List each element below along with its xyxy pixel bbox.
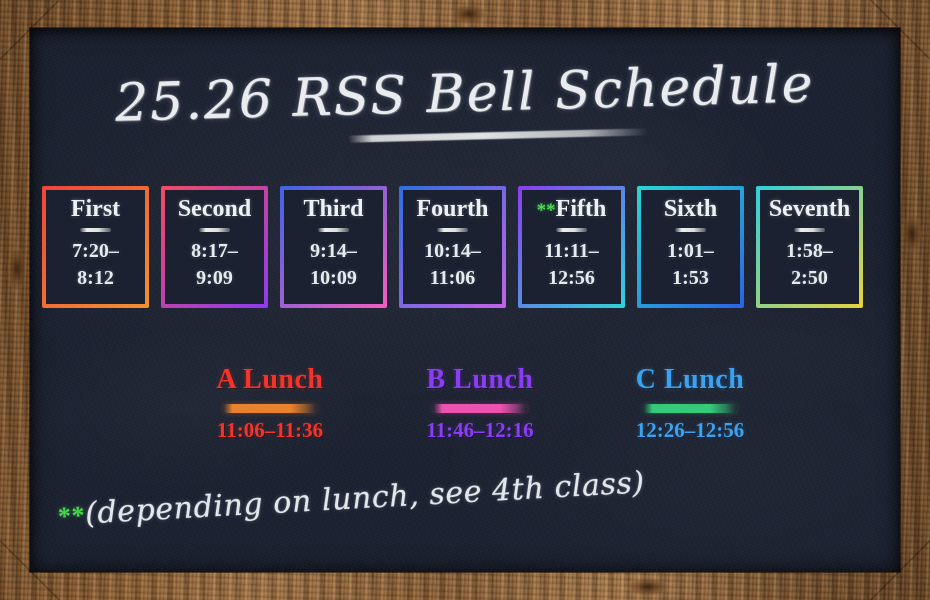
period-label: Third — [303, 196, 363, 222]
footnote-text: (depending on lunch, see 4th class) — [84, 465, 645, 531]
lunch-time-c: 12:26–12:56 — [600, 420, 780, 441]
wood-knot — [452, 4, 486, 24]
chalk-dash-icon — [199, 228, 230, 232]
chalkboard-surface: 25.26 RSS Bell Schedule First 7:20– 8:12 — [30, 28, 900, 572]
period-time-end: 11:06 — [424, 265, 481, 292]
title-area: 25.26 RSS Bell Schedule — [30, 64, 900, 124]
period-time-seventh: 1:58– 2:50 — [786, 238, 833, 291]
period-time-start: 1:58– — [786, 238, 833, 265]
footnote-asterisks: ** — [57, 501, 86, 531]
period-time-first: 7:20– 8:12 — [72, 238, 119, 291]
period-box-sixth[interactable]: Sixth 1:01– 1:53 — [637, 186, 744, 308]
period-time-start: 11:11– — [544, 238, 598, 265]
period-box-fifth[interactable]: **Fifth 11:11– 12:56 — [518, 186, 625, 308]
lunch-chalk-stroke — [223, 404, 317, 413]
period-name-sixth: Sixth — [664, 197, 717, 221]
chalk-dash-icon — [437, 228, 468, 232]
period-time-third: 9:14– 10:09 — [310, 238, 357, 291]
lunch-blocks-row: A Lunch 11:06–11:36 B Lunch 11:46–12:16 … — [180, 366, 780, 441]
chalk-dash-icon — [675, 228, 706, 232]
period-boxes-row: First 7:20– 8:12 Second — [42, 186, 888, 308]
period-time-end: 2:50 — [786, 265, 833, 292]
wood-knot — [902, 214, 922, 254]
period-time-end: 9:09 — [191, 265, 238, 292]
period-box-third[interactable]: Third 9:14– 10:09 — [280, 186, 387, 308]
period-label: Fourth — [417, 196, 489, 222]
period-time-end: 12:56 — [544, 265, 598, 292]
period-label: Fifth — [556, 196, 607, 222]
period-time-fifth: 11:11– 12:56 — [544, 238, 598, 291]
lunch-name-c: C Lunch — [600, 366, 780, 394]
period-box-seventh[interactable]: Seventh 1:58– 2:50 — [756, 186, 863, 308]
period-time-start: 8:17– — [191, 238, 238, 265]
period-time-start: 9:14– — [310, 238, 357, 265]
page-title: 25.26 RSS Bell Schedule — [115, 54, 816, 134]
lunch-time-a: 11:06–11:36 — [180, 420, 360, 441]
lunch-block-b[interactable]: B Lunch 11:46–12:16 — [390, 366, 570, 441]
period-name-first: First — [71, 197, 120, 221]
period-time-end: 10:09 — [310, 265, 357, 292]
lunch-chalk-stroke — [433, 404, 527, 413]
lunch-time-b: 11:46–12:16 — [390, 420, 570, 441]
lunch-block-c[interactable]: C Lunch 12:26–12:56 — [600, 366, 780, 441]
period-label: Sixth — [664, 196, 717, 222]
period-time-end: 8:12 — [72, 265, 119, 292]
chalk-dash-icon — [80, 228, 111, 232]
period-name-second: Second — [178, 197, 251, 221]
lunch-name-b: B Lunch — [390, 366, 570, 394]
period-time-second: 8:17– 9:09 — [191, 238, 238, 291]
period-box-first[interactable]: First 7:20– 8:12 — [42, 186, 149, 308]
chalkboard-bell-schedule: 25.26 RSS Bell Schedule First 7:20– 8:12 — [0, 0, 930, 600]
period-name-fifth: **Fifth — [537, 197, 607, 221]
period-label: Seventh — [769, 196, 850, 222]
period-box-fourth[interactable]: Fourth 10:14– 11:06 — [399, 186, 506, 308]
period-time-end: 1:53 — [667, 265, 714, 292]
period-time-sixth: 1:01– 1:53 — [667, 238, 714, 291]
period-time-fourth: 10:14– 11:06 — [424, 238, 481, 291]
chalk-dash-icon — [794, 228, 825, 232]
wood-knot — [628, 578, 668, 596]
footnote: **(depending on lunch, see 4th class) — [57, 465, 646, 533]
lunch-chalk-stroke — [643, 404, 737, 413]
period-time-start: 1:01– — [667, 238, 714, 265]
period-time-start: 7:20– — [72, 238, 119, 265]
lunch-block-a[interactable]: A Lunch 11:06–11:36 — [180, 366, 360, 441]
title-underline-chalk-stroke — [348, 128, 648, 142]
lunch-name-a: A Lunch — [180, 366, 360, 394]
chalk-dash-icon — [318, 228, 349, 232]
period-name-third: Third — [303, 197, 363, 221]
period-name-fourth: Fourth — [417, 197, 489, 221]
period-box-second[interactable]: Second 8:17– 9:09 — [161, 186, 268, 308]
period-time-start: 10:14– — [424, 238, 481, 265]
period-name-seventh: Seventh — [769, 197, 850, 221]
period-asterisks: ** — [537, 200, 556, 221]
period-label: First — [71, 196, 120, 222]
chalk-dash-icon — [556, 228, 587, 232]
wood-knot — [8, 246, 26, 292]
period-label: Second — [178, 196, 251, 222]
